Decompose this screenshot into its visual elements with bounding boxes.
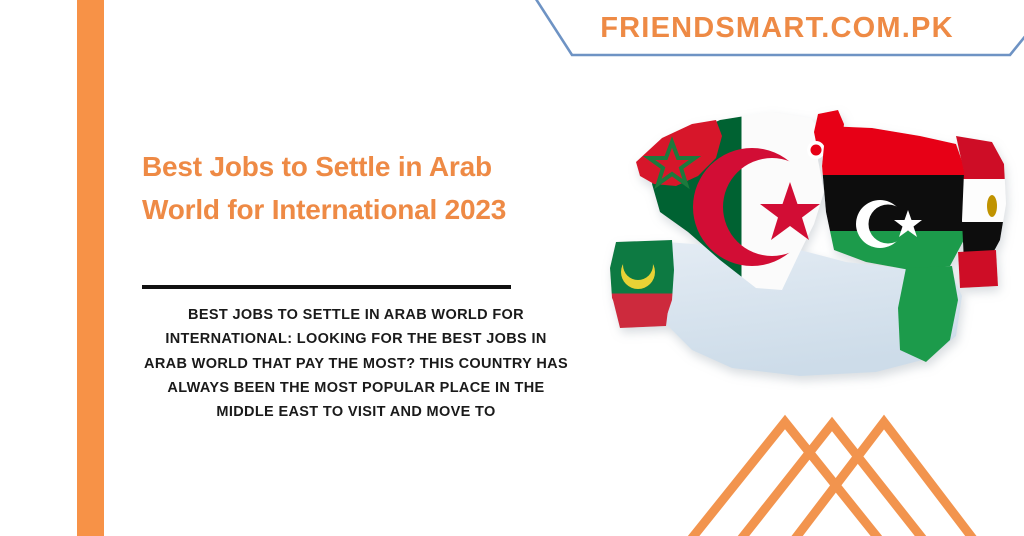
map-region-sahel-green <box>898 266 958 362</box>
left-accent-stripe <box>77 0 104 536</box>
north-africa-flag-map-image <box>600 100 1024 390</box>
site-name-text: FRIENDSMART.COM.PK <box>572 12 982 45</box>
divider <box>142 285 511 289</box>
map-graphic <box>600 100 1024 390</box>
map-patch-red-left <box>612 294 670 328</box>
egypt-eagle-icon <box>987 195 997 217</box>
article-excerpt: Best Jobs to Settle in Arab World for In… <box>142 303 570 425</box>
map-patch-red-right <box>958 250 998 288</box>
article-thumbnail-poster: FRIENDSMART.COM.PK Best Jobs to Settle i… <box>0 0 1024 536</box>
chevron-decoration <box>640 408 1024 536</box>
mauritania-crescent-icon <box>612 248 674 290</box>
site-banner: FRIENDSMART.COM.PK <box>520 0 1024 62</box>
chevron-lines-icon <box>640 408 1024 536</box>
page-title: Best Jobs to Settle in Arab World for In… <box>142 146 522 231</box>
map-region-egypt <box>956 136 1006 266</box>
tunisia-emblem-inner <box>811 145 822 156</box>
